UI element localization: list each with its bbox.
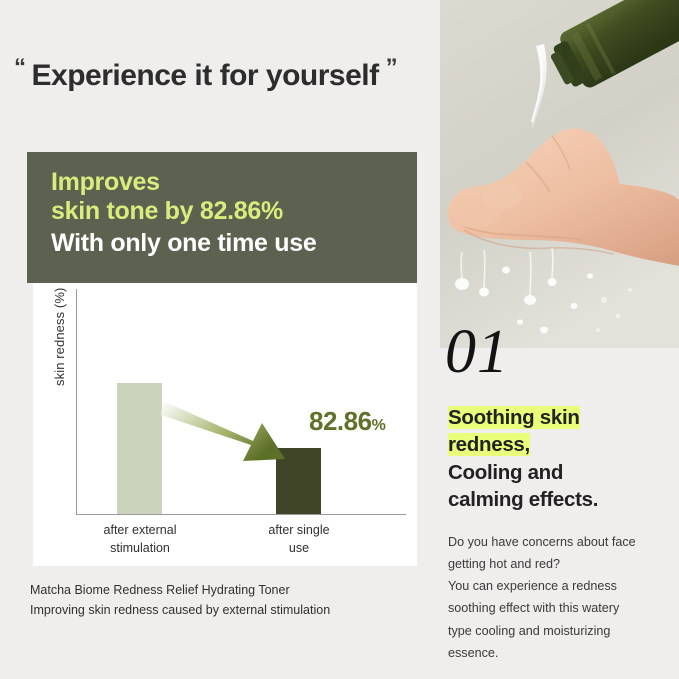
section-heading-highlight-1: Soothing skin xyxy=(448,406,580,429)
x-tick-label-1-line-2: stimulation xyxy=(74,539,206,557)
body-line-5: type cooling and moisturizing xyxy=(448,620,676,642)
body-line-6: essence. xyxy=(448,642,676,664)
section-heading-plain-1: Cooling and xyxy=(448,461,563,484)
percent-symbol: % xyxy=(372,417,386,434)
section-heading: Soothing skin redness, Cooling and calmi… xyxy=(448,404,676,513)
page-headline: “Experience it for yourself” xyxy=(14,54,434,93)
chart-caption-line-1: Matcha Biome Redness Relief Hydrating To… xyxy=(30,580,430,600)
right-column: 01 Soothing skin redness, Cooling and ca… xyxy=(440,0,679,679)
bar-chart: skin redness (%) xyxy=(33,283,417,566)
body-line-2: getting hot and red? xyxy=(448,553,676,575)
product-pour-photo xyxy=(440,0,679,348)
body-line-4: soothing effect with this watery xyxy=(448,597,676,619)
section-heading-plain-2: calming effects. xyxy=(448,488,598,511)
photo-illustration xyxy=(440,0,679,348)
reduction-percent-value: 82.86 xyxy=(309,406,372,436)
left-column: “Experience it for yourself” Improves sk… xyxy=(0,0,440,679)
bar-after-external-stimulation xyxy=(117,383,162,514)
close-quote-icon: ” xyxy=(386,54,398,81)
y-axis-label: skin redness (%) xyxy=(52,256,67,386)
x-tick-label-2: after single use xyxy=(238,521,360,557)
reduction-arrow-icon xyxy=(161,393,301,473)
section-body-copy: Do you have concerns about face getting … xyxy=(448,531,676,664)
claim-banner: Improves skin tone by 82.86% With only o… xyxy=(27,152,417,283)
section-heading-highlight-2: redness, xyxy=(448,433,530,456)
reduction-percent-label: 82.86% xyxy=(309,406,385,437)
headline-text: Experience it for yourself xyxy=(32,59,379,92)
chart-caption-line-2: Improving skin redness caused by externa… xyxy=(30,600,430,620)
y-axis-line xyxy=(76,289,77,515)
section-number: 01 xyxy=(445,321,509,383)
x-tick-label-2-line-2: use xyxy=(238,539,360,557)
banner-line-1: Improves xyxy=(51,168,417,197)
x-tick-label-1: after external stimulation xyxy=(74,521,206,557)
banner-line-3: With only one time use xyxy=(51,229,417,258)
body-line-3: You can experience a redness xyxy=(448,575,676,597)
banner-line-2: skin tone by 82.86% xyxy=(51,197,417,226)
open-quote-icon: “ xyxy=(14,54,26,81)
product-detail-page: “Experience it for yourself” Improves sk… xyxy=(0,0,679,679)
x-tick-label-2-line-1: after single xyxy=(238,521,360,539)
body-line-1: Do you have concerns about face xyxy=(448,531,676,553)
chart-card: skin redness (%) xyxy=(33,283,417,566)
x-axis-line xyxy=(76,514,406,515)
x-tick-label-1-line-1: after external xyxy=(74,521,206,539)
chart-caption: Matcha Biome Redness Relief Hydrating To… xyxy=(30,580,430,621)
